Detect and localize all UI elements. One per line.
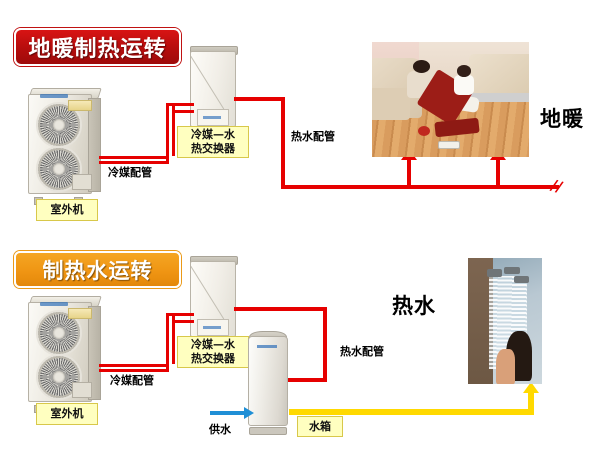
label-heat-exchanger-top: 冷媒—水 热交换器 (177, 126, 249, 158)
daikin-logo (257, 345, 277, 348)
water-supply-line (210, 411, 246, 415)
label-outdoor-unit-bottom: 室外机 (36, 403, 98, 425)
label-outdoor-unit-top: 室外机 (36, 199, 98, 221)
hydro-unit-panel (197, 319, 229, 336)
label-destination-hot-water: 热水 (392, 290, 436, 320)
hydro-unit-top (190, 46, 236, 130)
hot-water-pipe-bottom-top-run (234, 307, 327, 311)
heat-exchanger-line-1: 冷媒—水 (191, 128, 235, 142)
hydro-unit-panel (197, 109, 229, 126)
service-panel (72, 174, 92, 190)
hot-water-pipe-bottom-vertical (323, 307, 327, 382)
tank-outlet-pipe-vertical (528, 392, 534, 415)
daikin-logo (40, 302, 68, 306)
label-hot-water-pipe-bottom: 热水配管 (340, 345, 384, 358)
tank-body (248, 336, 288, 426)
heat-exchanger-line-2: 热交换器 (191, 142, 235, 156)
label-water-supply: 供水 (209, 423, 231, 436)
refrigerant-pipe-horizontal-a (99, 156, 169, 159)
photo-hot-water-shower (468, 258, 542, 384)
banner-floor-heating: 地暖制热运转 (14, 28, 181, 66)
label-water-tank: 水箱 (297, 416, 343, 437)
hot-water-pipe-top-horizontal (234, 97, 285, 101)
label-refrigerant-pipe-top: 冷媒配管 (108, 166, 152, 179)
refrigerant-pipe-to-hydro-b (172, 110, 194, 113)
diagram-canvas: 地暖制热运转 室外机 冷媒—水 热交换器 冷媒配管 // 热水配管 (0, 0, 600, 449)
arrow-right-icon (244, 407, 254, 419)
outdoor-unit-top (28, 88, 100, 200)
tank-base (249, 427, 287, 435)
label-destination-floor-heating: 地暖 (540, 103, 584, 133)
refrigerant-pipe-to-hydro-a (166, 103, 194, 106)
unit-badge (68, 308, 92, 319)
hot-water-riser-right (496, 158, 500, 188)
label-hot-water-pipe-top: 热水配管 (291, 130, 335, 143)
refrigerant-pipe-horizontal-a (99, 364, 169, 367)
daikin-logo (40, 94, 68, 98)
hot-water-pipe-to-tank (286, 378, 327, 382)
label-refrigerant-pipe-bottom: 冷媒配管 (110, 374, 154, 387)
banner-hot-water: 制热水运转 (14, 251, 181, 288)
refrigerant-pipe-vertical-a (166, 103, 169, 164)
hydro-unit-bottom (190, 256, 236, 340)
hot-water-pipe-top-bottom-run (281, 185, 559, 189)
refrigerant-pipe-to-hydro-b (172, 320, 194, 323)
pipe-break-symbol: // (549, 178, 564, 196)
refrigerant-pipe-horizontal-b (99, 369, 169, 372)
refrigerant-pipe-vertical-a (166, 313, 169, 372)
service-panel (72, 382, 92, 398)
tank-outlet-pipe-horizontal (289, 409, 534, 415)
water-tank (248, 331, 288, 431)
hot-water-pipe-top-vertical (281, 97, 285, 188)
refrigerant-pipe-horizontal-b (99, 161, 169, 164)
hot-water-riser-left (407, 158, 411, 188)
label-heat-exchanger-bottom: 冷媒—水 热交换器 (177, 336, 249, 368)
heat-exchanger-line-2: 热交换器 (191, 352, 235, 366)
outdoor-unit-bottom (28, 296, 100, 408)
refrigerant-pipe-to-hydro-a (166, 313, 194, 316)
unit-badge (68, 100, 92, 111)
photo-floor-heating (372, 42, 529, 157)
heat-exchanger-line-1: 冷媒—水 (191, 338, 235, 352)
